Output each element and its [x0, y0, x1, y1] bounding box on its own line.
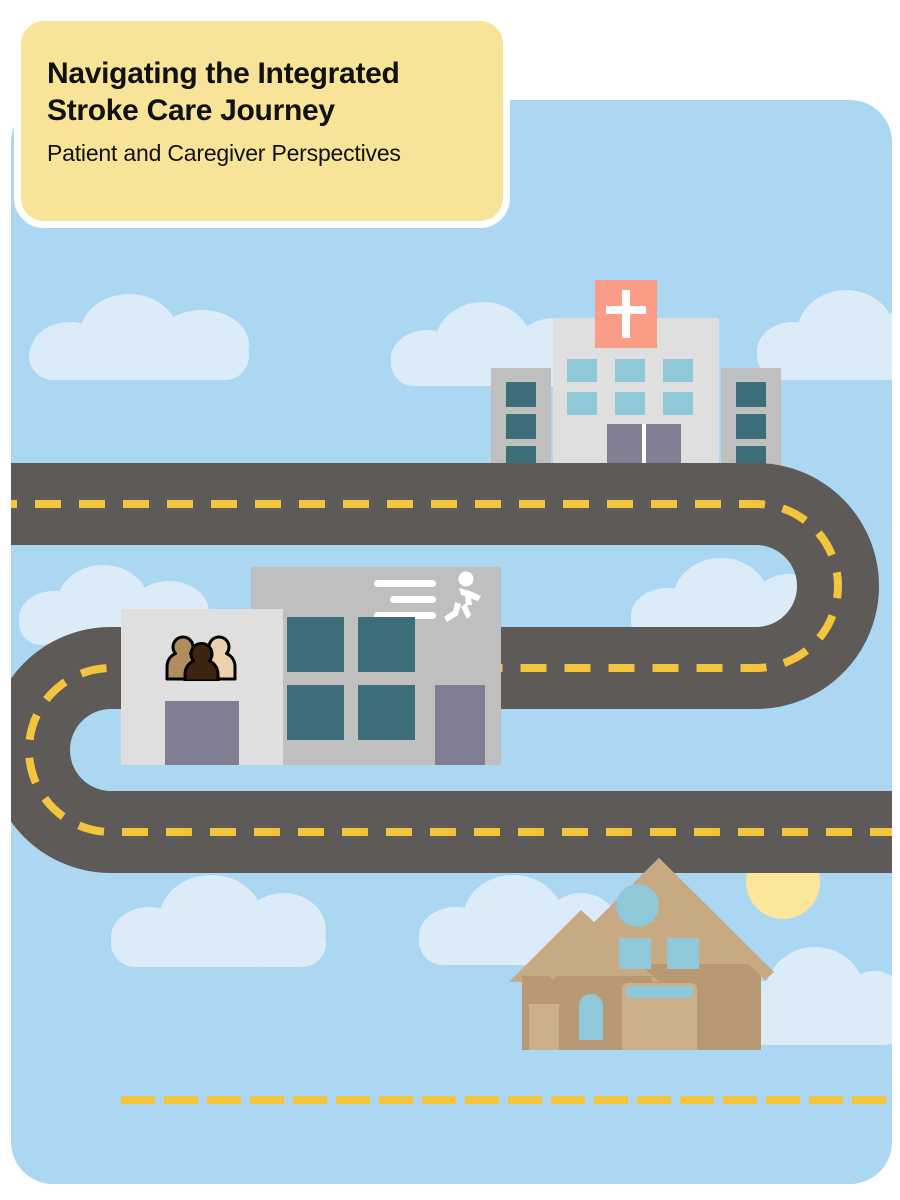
house-window — [667, 938, 699, 969]
poster-canvas: Navigating the Integrated Stroke Care Jo… — [0, 0, 900, 1200]
house-window — [619, 938, 651, 969]
rehab-window — [358, 617, 415, 672]
title-card: Navigating the Integrated Stroke Care Jo… — [14, 14, 510, 228]
rehab-window — [287, 685, 344, 740]
home-building[interactable] — [509, 850, 774, 1050]
house-front-door[interactable] — [579, 994, 603, 1040]
page-subtitle: Patient and Caregiver Perspectives — [47, 139, 477, 167]
page-title: Navigating the Integrated Stroke Care Jo… — [47, 55, 477, 129]
rehab-center-building[interactable] — [121, 555, 501, 765]
speed-line-icon — [374, 580, 436, 587]
rehab-side-door[interactable] — [435, 685, 485, 765]
rehab-window — [358, 685, 415, 740]
house-side-window — [529, 1004, 559, 1050]
sky-background — [11, 100, 892, 1184]
running-person-icon — [437, 571, 483, 627]
house-garage-window-strip — [626, 986, 693, 998]
rehab-annex-door[interactable] — [165, 701, 239, 765]
speed-line-icon — [390, 596, 436, 603]
rehab-window — [287, 617, 344, 672]
house-attic-window — [616, 884, 659, 927]
people-group-icon — [163, 627, 239, 681]
